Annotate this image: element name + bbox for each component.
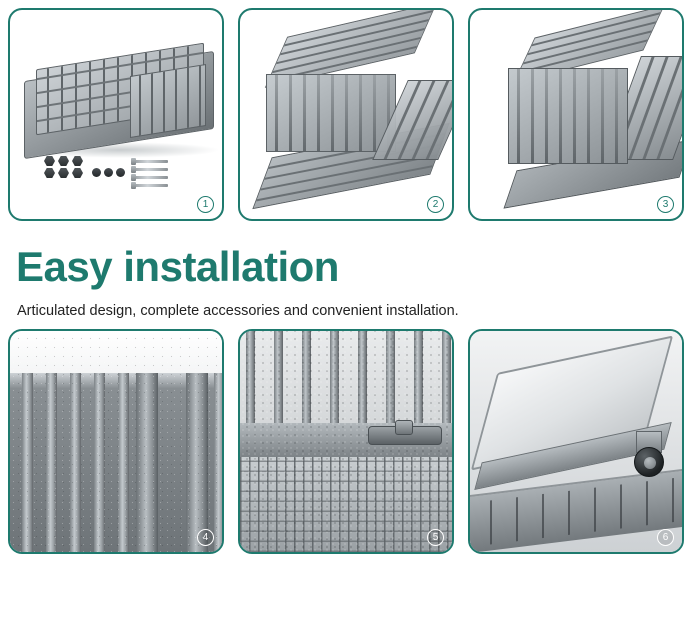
- panel-4-bars-closeup: 4: [8, 329, 224, 554]
- panel-badge-6: 6: [657, 529, 674, 546]
- illustration-tray-wheel: [470, 331, 682, 552]
- front-wall-bars: [508, 68, 628, 164]
- product-infographic: 1 2: [0, 0, 692, 642]
- long-screw: [134, 176, 168, 179]
- grid-panel-small: [130, 64, 206, 138]
- panel-badge-1: 1: [197, 196, 214, 213]
- texture-overlay: [10, 331, 222, 552]
- screw: [116, 168, 125, 177]
- front-bars: [266, 74, 396, 152]
- panel-badge-2: 2: [427, 196, 444, 213]
- illustration-frame-assembly: [240, 10, 452, 219]
- panel-row-top: 1 2: [0, 0, 692, 221]
- long-screw: [134, 168, 168, 171]
- illustration-bars-closeup: [10, 331, 222, 552]
- panel-row-bottom: 4 5: [0, 329, 692, 554]
- illustration-latch-closeup: [240, 331, 452, 552]
- panel-1-flat-pack: 1: [8, 8, 224, 221]
- panel-3-assembled-crate: 3: [468, 8, 684, 221]
- long-screw: [134, 184, 168, 187]
- panel-6-tray-wheel-closeup: 6: [468, 329, 684, 554]
- panel-badge-4: 4: [197, 529, 214, 546]
- panel-badge-3: 3: [657, 196, 674, 213]
- heading-block: Easy installation Articulated design, co…: [0, 221, 692, 329]
- caster-wheel: [634, 447, 664, 477]
- illustration-flat-pack: [10, 10, 222, 219]
- hex-bolt: [44, 168, 55, 178]
- long-screw: [134, 160, 168, 163]
- panel-5-latch-closeup: 5: [238, 329, 454, 554]
- page-subtitle: Articulated design, complete accessories…: [17, 303, 678, 319]
- panel-2-frame-assembly: 2: [238, 8, 454, 221]
- hex-bolt: [72, 168, 83, 178]
- slide-bolt-latch: [368, 426, 442, 445]
- hex-bolt: [58, 168, 69, 178]
- panel-badge-5: 5: [427, 529, 444, 546]
- page-title: Easy installation: [16, 245, 678, 289]
- illustration-assembled-crate: [470, 10, 682, 219]
- screw: [104, 168, 113, 177]
- screw: [92, 168, 101, 177]
